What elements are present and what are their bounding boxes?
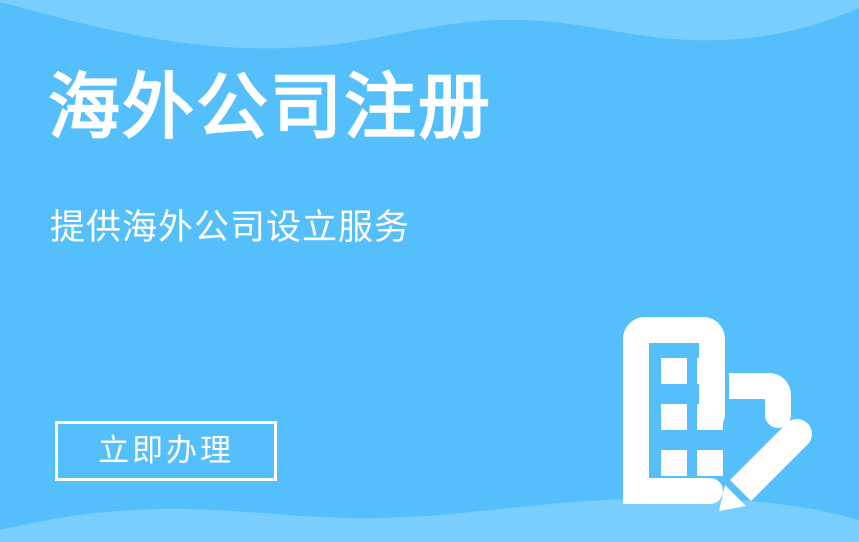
building-window-icon: [661, 404, 687, 430]
building-with-pencil-icon: [603, 300, 828, 525]
page-title: 海外公司注册: [48, 66, 492, 151]
building-window-icon: [697, 450, 723, 476]
building-window-icon: [661, 450, 687, 476]
apply-now-button[interactable]: 立即办理: [55, 421, 277, 481]
overseas-company-registration-banner: 海外公司注册 提供海外公司设立服务 立即办理: [0, 0, 859, 542]
building-wing-icon: [729, 373, 791, 428]
banner-content: 海外公司注册 提供海外公司设立服务 立即办理: [0, 0, 859, 542]
page-subtitle: 提供海外公司设立服务: [50, 205, 410, 251]
building-window-icon: [697, 404, 723, 430]
building-window-icon: [697, 358, 723, 384]
building-window-icon: [661, 358, 687, 384]
pencil-body-icon: [730, 419, 812, 501]
